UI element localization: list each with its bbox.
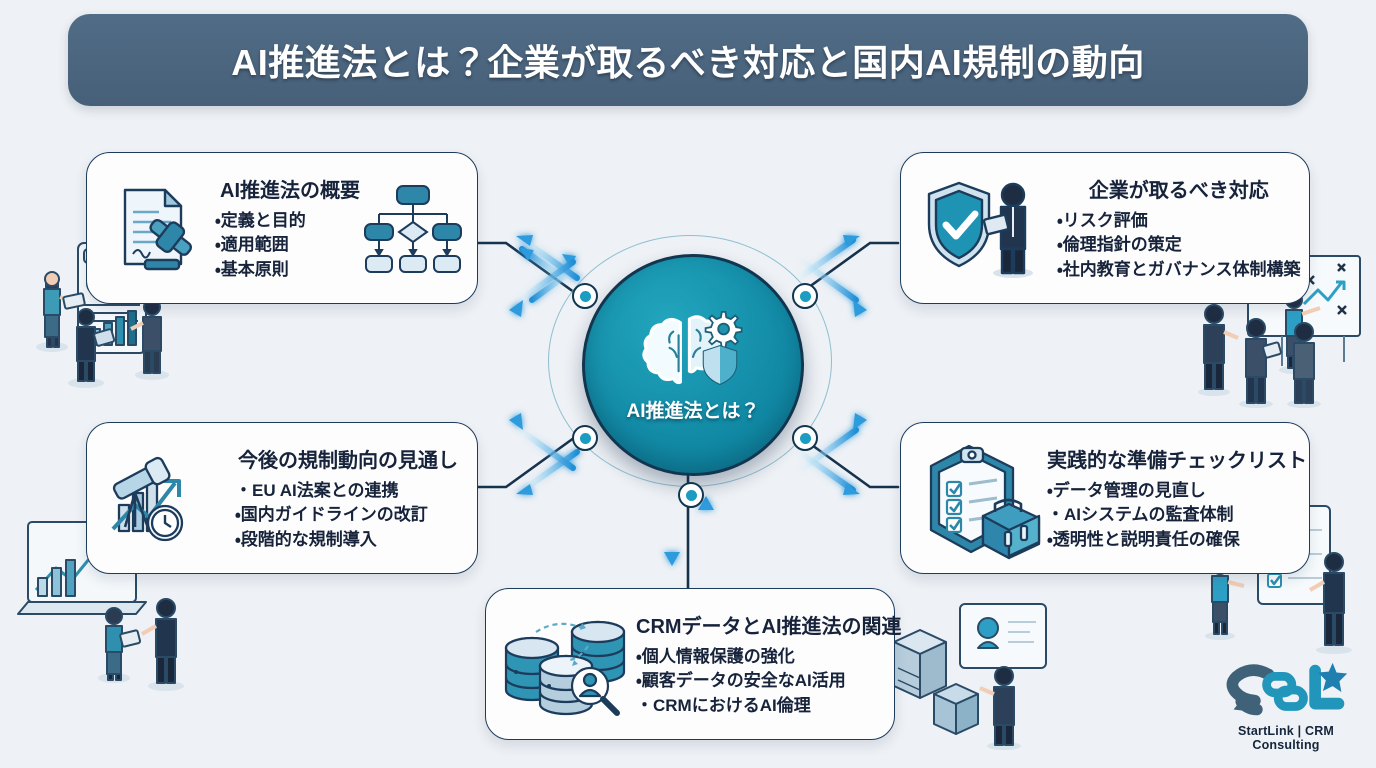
bullet-item: 基本原則 <box>215 258 365 282</box>
bullet-item: 顧客データの安全なAI活用 <box>636 669 902 693</box>
node-checklist <box>792 425 818 451</box>
node-actions <box>792 283 818 309</box>
bullet-item: 透明性と説明責任の確保 <box>1047 528 1307 552</box>
node-outlook <box>572 425 598 451</box>
hub-label: AI推進法とは？ <box>626 396 759 423</box>
bullet-item: 適用範囲 <box>215 233 365 257</box>
card-bullets: EU AI法案との連携 国内ガイドラインの改訂 段階的な規制導入 <box>235 479 461 551</box>
brand-logo[interactable]: StartLink | CRM Consulting <box>1206 660 1366 760</box>
page-title: AI推進法とは？企業が取るべき対応と国内AI規制の動向 <box>231 34 1145 86</box>
card-title: 今後の規制動向の見通し <box>235 444 461 473</box>
bullet-item: 倫理指針の策定 <box>1057 233 1300 257</box>
card-overview[interactable]: AI推進法の概要 定義と目的 適用範囲 基本原則 <box>86 152 478 304</box>
card-title: CRMデータとAI推進法の関連 <box>636 610 902 639</box>
bullet-item: 定義と目的 <box>215 209 365 233</box>
hub-circle[interactable]: AI推進法とは？ <box>582 254 804 476</box>
bullet-item: 段階的な規制導入 <box>235 528 461 552</box>
card-overview-body: AI推進法の概要 定義と目的 適用範囲 基本原則 <box>211 174 365 281</box>
card-bullets: 定義と目的 適用範囲 基本原則 <box>215 209 365 281</box>
card-checklist[interactable]: 実践的な準備チェックリスト データ管理の見直し AIシステムの監査体制 透明性と… <box>900 422 1310 574</box>
bullet-item: データ管理の見直し <box>1047 479 1307 503</box>
sl-chain-link-star-icon <box>1218 660 1354 722</box>
card-crm[interactable]: CRMデータとAI推進法の関連 個人情報保護の強化 顧客データの安全なAI活用 … <box>485 588 895 740</box>
shield-check-person-icon <box>917 174 1053 282</box>
card-bullets: データ管理の見直し AIシステムの監査体制 透明性と説明責任の確保 <box>1047 479 1307 551</box>
card-title: 企業が取るべき対応 <box>1057 174 1300 203</box>
node-crm <box>678 482 704 508</box>
card-actions[interactable]: 企業が取るべき対応 リスク評価 倫理指針の策定 社内教育とガバナンス体制構築 <box>900 152 1310 304</box>
document-gavel-icon <box>103 174 211 282</box>
telescope-growth-clock-icon <box>103 444 231 552</box>
title-banner: AI推進法とは？企業が取るべき対応と国内AI規制の動向 <box>68 14 1308 106</box>
bullet-item: 個人情報保護の強化 <box>636 645 902 669</box>
bullet-item: AIシステムの監査体制 <box>1047 503 1307 527</box>
clipboard-checklist-toolbox-icon <box>917 444 1043 552</box>
card-actions-body: 企業が取るべき対応 リスク評価 倫理指針の策定 社内教育とガバナンス体制構築 <box>1053 174 1300 281</box>
bullet-item: 社内教育とガバナンス体制構築 <box>1057 258 1300 282</box>
bullet-item: EU AI法案との連携 <box>235 479 461 503</box>
brain-gear-shield-icon <box>639 308 747 386</box>
bullet-item: リスク評価 <box>1057 209 1300 233</box>
card-outlook[interactable]: 今後の規制動向の見通し EU AI法案との連携 国内ガイドラインの改訂 段階的な… <box>86 422 478 574</box>
flowchart-diagram-icon <box>365 174 461 282</box>
card-crm-body: CRMデータとAI推進法の関連 個人情報保護の強化 顧客データの安全なAI活用 … <box>632 610 902 717</box>
node-overview <box>572 283 598 309</box>
database-person-search-icon <box>502 610 632 718</box>
card-title: 実践的な準備チェックリスト <box>1047 444 1307 473</box>
bullet-item: 国内ガイドラインの改訂 <box>235 503 461 527</box>
bullet-item: CRMにおけるAI倫理 <box>636 694 902 718</box>
decor-crm-servers-person <box>884 596 1064 756</box>
card-bullets: 個人情報保護の強化 顧客データの安全なAI活用 CRMにおけるAI倫理 <box>636 645 902 717</box>
infographic-canvas: AI推進法とは？ <box>0 0 1376 768</box>
card-outlook-body: 今後の規制動向の見通し EU AI法案との連携 国内ガイドラインの改訂 段階的な… <box>231 444 461 551</box>
logo-text: StartLink | CRM Consulting <box>1206 724 1366 752</box>
card-title: AI推進法の概要 <box>215 174 365 203</box>
card-checklist-body: 実践的な準備チェックリスト データ管理の見直し AIシステムの監査体制 透明性と… <box>1043 444 1307 551</box>
card-bullets: リスク評価 倫理指針の策定 社内教育とガバナンス体制構築 <box>1057 209 1300 281</box>
